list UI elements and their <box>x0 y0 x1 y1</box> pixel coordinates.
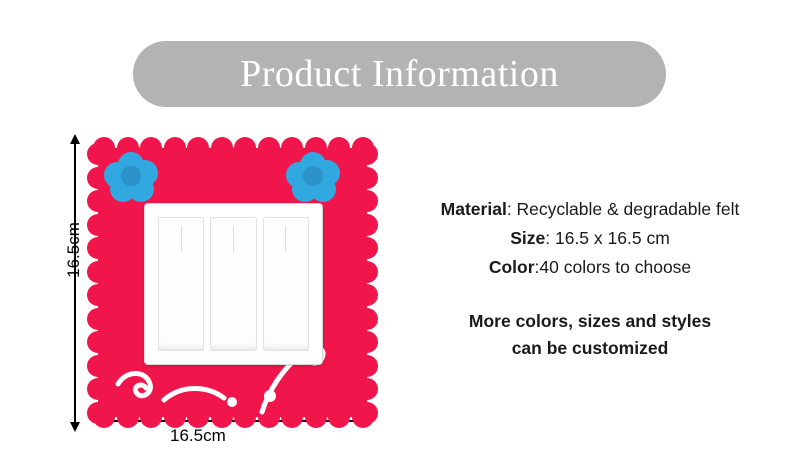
scallop-dot <box>352 137 374 159</box>
height-dimension-label: 16.5cm <box>64 222 84 278</box>
scallop-dot <box>356 378 378 400</box>
scallop-dot <box>356 167 378 189</box>
switch-rocker-2[interactable] <box>210 217 256 351</box>
product-information-banner: Product Information <box>133 41 666 107</box>
scallop-dot <box>258 137 280 159</box>
scallop-dot <box>356 284 378 306</box>
scallop-dot <box>87 261 109 283</box>
scallop-dot <box>234 137 256 159</box>
scallop-dot <box>87 402 109 424</box>
scallop-dot <box>87 355 109 377</box>
scallop-dot <box>87 308 109 330</box>
scallop-dot <box>164 137 186 159</box>
spec-size-label: Size <box>510 228 545 248</box>
spec-size-value: 16.5 x 16.5 cm <box>555 228 670 248</box>
customization-note-line-2: can be customized <box>395 335 785 362</box>
spec-material-separator: : <box>507 199 517 219</box>
switch-rockers[interactable] <box>158 217 309 351</box>
spec-material-value: Recyclable & degradable felt <box>517 199 740 219</box>
spec-size-separator: : <box>545 228 555 248</box>
spec-material-label: Material <box>441 199 507 219</box>
flower-left-icon <box>104 152 160 202</box>
spec-color-label: Color <box>489 257 535 277</box>
page-title: Product Information <box>240 55 559 93</box>
product-specs: Material: Recyclable & degradable felt S… <box>395 195 785 362</box>
spec-material: Material: Recyclable & degradable felt <box>395 195 785 224</box>
light-switch-plate[interactable] <box>144 203 323 365</box>
felt-switch-sticker <box>90 140 375 425</box>
scallop-dot <box>356 355 378 377</box>
scallop-dot <box>356 402 378 424</box>
scallop-dot <box>356 214 378 236</box>
scallop-dot <box>356 331 378 353</box>
spec-color: Color:40 colors to choose <box>395 253 785 282</box>
scallop-dot <box>356 237 378 259</box>
customization-note: More colors, sizes and styles can be cus… <box>395 308 785 362</box>
scallop-dot <box>211 137 233 159</box>
scallop-dot <box>87 237 109 259</box>
scallop-dot <box>356 308 378 330</box>
spec-size: Size: 16.5 x 16.5 cm <box>395 224 785 253</box>
height-dimension-arrow <box>74 143 76 423</box>
flower-right-icon <box>286 152 342 202</box>
customization-note-line-1: More colors, sizes and styles <box>395 308 785 335</box>
switch-rocker-3[interactable] <box>263 217 309 351</box>
switch-rocker-1[interactable] <box>158 217 204 351</box>
spec-color-value: 40 colors to choose <box>539 257 691 277</box>
width-dimension-label: 16.5cm <box>170 426 226 446</box>
product-image-area: 16.5cm 16.5cm <box>60 130 390 450</box>
scallop-dot <box>87 378 109 400</box>
scallop-dot <box>87 214 109 236</box>
scallop-dot <box>87 331 109 353</box>
scallop-dot <box>87 284 109 306</box>
scallop-dot <box>356 261 378 283</box>
scallop-dot <box>356 190 378 212</box>
scallop-dot <box>187 137 209 159</box>
